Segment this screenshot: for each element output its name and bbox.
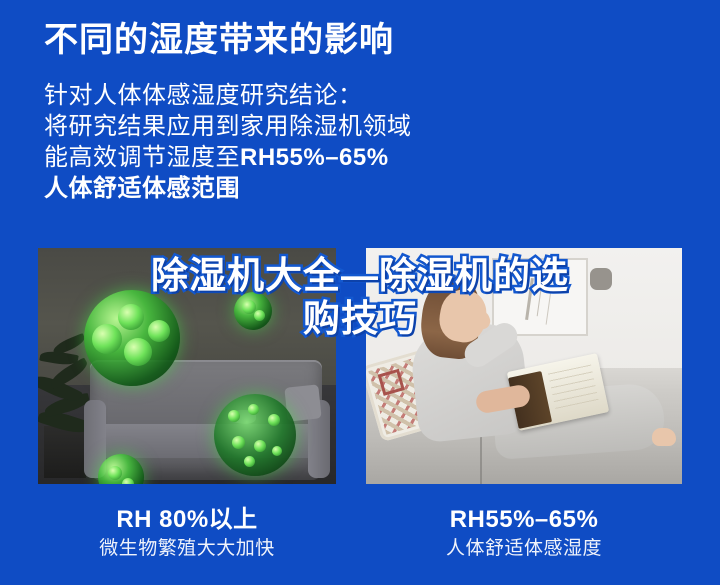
- photo-panel-left: [38, 248, 336, 484]
- caption-left: RH 80%以上 微生物繁殖大大加快: [38, 505, 336, 563]
- caption-right: RH55%–65% 人体舒适体感湿度: [366, 505, 682, 563]
- caption-left-main: RH 80%以上: [38, 505, 336, 535]
- caption-right-main: RH55%–65%: [366, 505, 682, 535]
- microbe-icon: [234, 292, 272, 330]
- intro-line-2: 将研究结果应用到家用除湿机领域: [44, 111, 664, 142]
- wall-knob-decor: [590, 268, 612, 290]
- microbe-icon: [84, 290, 180, 386]
- caption-left-sub: 微生物繁殖大大加快: [38, 535, 336, 563]
- intro-line-3-bold: RH55%–65%: [240, 144, 389, 171]
- intro-line-3: 能高效调节湿度至RH55%–65%: [44, 142, 664, 173]
- intro-line-4: 人体舒适体感范围: [44, 173, 664, 204]
- dark-room-scene: [38, 248, 336, 484]
- poster-root: 不同的湿度带来的影响 针对人体体感湿度研究结论： 将研究结果应用到家用除湿机领域…: [0, 0, 720, 585]
- caption-right-sub: 人体舒适体感湿度: [366, 535, 682, 563]
- microbe-icon: [214, 394, 296, 476]
- intro-line-3-normal: 能高效调节湿度至: [44, 144, 240, 171]
- plant-pot: [44, 426, 86, 478]
- photo-panel-right: [366, 248, 682, 484]
- light-sofa-seam: [480, 430, 482, 484]
- person-foot: [652, 428, 676, 446]
- bright-room-scene: [366, 248, 682, 484]
- page-title: 不同的湿度带来的影响: [44, 18, 394, 62]
- intro-paragraph: 针对人体体感湿度研究结论： 将研究结果应用到家用除湿机领域 能高效调节湿度至RH…: [44, 80, 664, 204]
- intro-line-1: 针对人体体感湿度研究结论：: [44, 80, 664, 111]
